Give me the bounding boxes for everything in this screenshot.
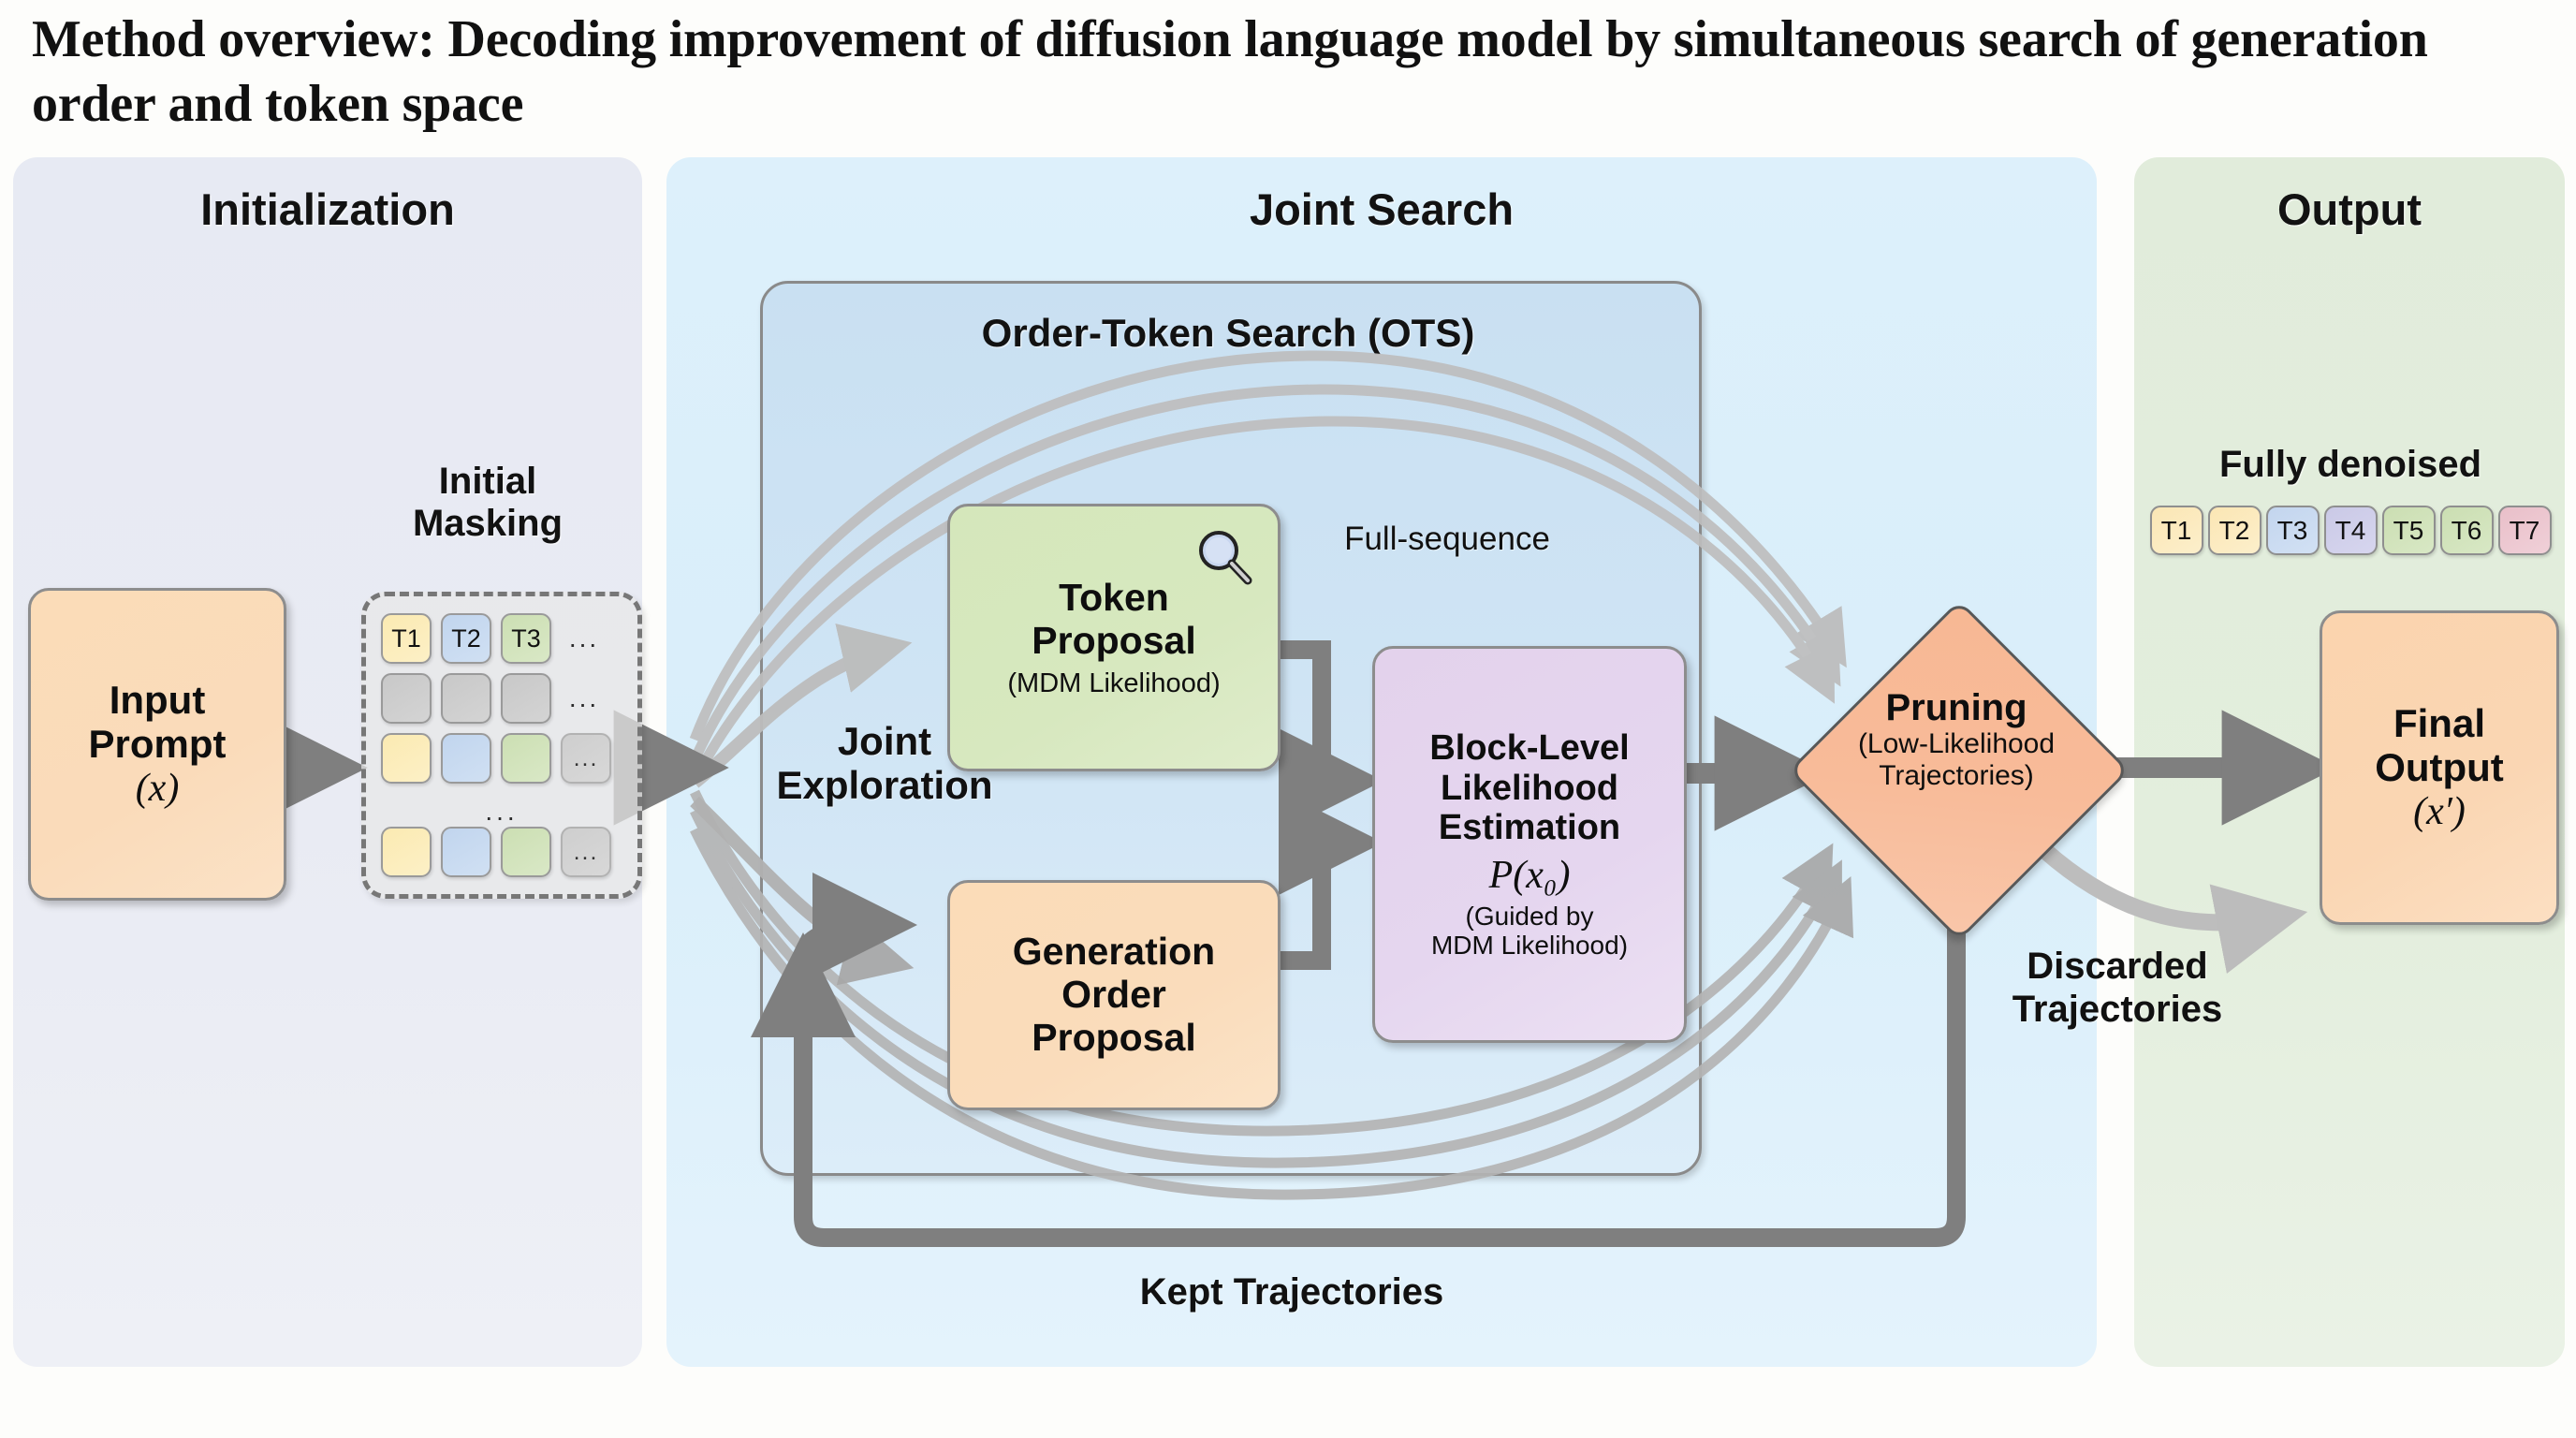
block-level-line3: Estimation (1439, 808, 1620, 848)
mask-cell (501, 673, 551, 724)
kept-trajectories-label: Kept Trajectories (1067, 1271, 1516, 1313)
mask-cell (441, 827, 491, 877)
mask-cell-ellipsis: ... (561, 827, 611, 877)
generation-order-line3: Proposal (1032, 1017, 1195, 1060)
final-output-line2: Output (2375, 745, 2504, 789)
mask-cell (381, 673, 432, 724)
mask-row-ellipsis: ... (561, 624, 607, 653)
input-prompt-line2: Prompt (89, 722, 227, 766)
mask-cell: T3 (501, 613, 551, 664)
mask-cell (441, 673, 491, 724)
initial-masking-title: Initial Masking (354, 461, 622, 545)
initial-masking-title-line1: Initial (354, 461, 622, 503)
block-level-math: P(x₀) (1489, 854, 1571, 898)
generation-order-proposal-node: Generation Order Proposal (947, 880, 1281, 1110)
mask-cell-ellipsis: ... (561, 733, 611, 784)
fully-denoised-label: Fully denoised (2142, 444, 2559, 486)
pruning-node: Pruning (Low-Likelihood Trajectories) (1807, 618, 2106, 917)
fully-denoised-token-row: T1 T2 T3 T4 T5 T6 T7 (2142, 506, 2559, 555)
mask-cell: T1 (381, 613, 432, 664)
mask-row: ... (381, 673, 607, 724)
input-prompt-math: (x) (136, 767, 180, 811)
mask-row: ... (381, 733, 611, 784)
mask-cell: T2 (441, 613, 491, 664)
final-output-line1: Final (2393, 701, 2485, 745)
mask-cell (441, 733, 491, 784)
mask-cell (501, 733, 551, 784)
mask-cell (381, 827, 432, 877)
input-prompt-node: Input Prompt (x) (28, 588, 286, 901)
panel-joint-search-title: Joint Search (666, 183, 2097, 235)
token-proposal-node: Token Proposal (MDM Likelihood) (947, 504, 1281, 771)
output-token: T2 (2208, 506, 2261, 555)
discarded-line1: Discarded (1958, 946, 2276, 989)
final-output-math: (x′) (2413, 790, 2466, 834)
output-token: T3 (2266, 506, 2320, 555)
token-proposal-line2: Proposal (1032, 620, 1195, 663)
block-level-likelihood-node: Block-Level Likelihood Estimation P(x₀) … (1372, 646, 1687, 1043)
input-prompt-line1: Input (110, 678, 206, 722)
diagram-root: Method overview: Decoding improvement of… (0, 0, 2576, 1438)
output-token: T1 (2150, 506, 2203, 555)
output-token: T4 (2324, 506, 2378, 555)
block-level-sub2: MDM Likelihood) (1431, 931, 1628, 960)
block-level-sub1: (Guided by (1466, 902, 1594, 931)
mask-cell (501, 827, 551, 877)
initial-masking-title-line2: Masking (354, 503, 622, 545)
mask-cell (381, 733, 432, 784)
mask-row-ellipsis: ... (561, 683, 607, 713)
ots-title: Order-Token Search (OTS) (760, 311, 1696, 356)
generation-order-line1: Generation (1013, 931, 1215, 974)
block-level-line1: Block-Level (1429, 728, 1629, 769)
panel-initialization-title: Initialization (13, 183, 642, 235)
mask-vertical-ellipsis: ... (366, 797, 637, 827)
output-token: T7 (2498, 506, 2552, 555)
mask-row: T1 T2 T3 ... (381, 613, 607, 664)
initial-masking-grid: T1 T2 T3 ... ... ... ... ... (361, 592, 642, 899)
output-token: T6 (2440, 506, 2494, 555)
token-proposal-sub: (MDM Likelihood) (1007, 668, 1220, 698)
full-sequence-label: Full-sequence (1288, 521, 1606, 558)
final-output-node: Final Output (x′) (2320, 610, 2559, 925)
panel-output-title: Output (2134, 183, 2565, 235)
pruning-diamond-shape (1789, 600, 2130, 942)
token-proposal-line1: Token (1059, 577, 1169, 620)
page-title: Method overview: Decoding improvement of… (32, 7, 2559, 137)
magnifier-icon (1193, 527, 1257, 591)
output-token: T5 (2382, 506, 2436, 555)
block-level-line2: Likelihood (1441, 769, 1618, 809)
discarded-trajectories-label: Discarded Trajectories (1958, 946, 2276, 1031)
mask-row: ... (381, 827, 611, 877)
discarded-line2: Trajectories (1958, 989, 2276, 1032)
generation-order-line2: Order (1061, 974, 1166, 1017)
